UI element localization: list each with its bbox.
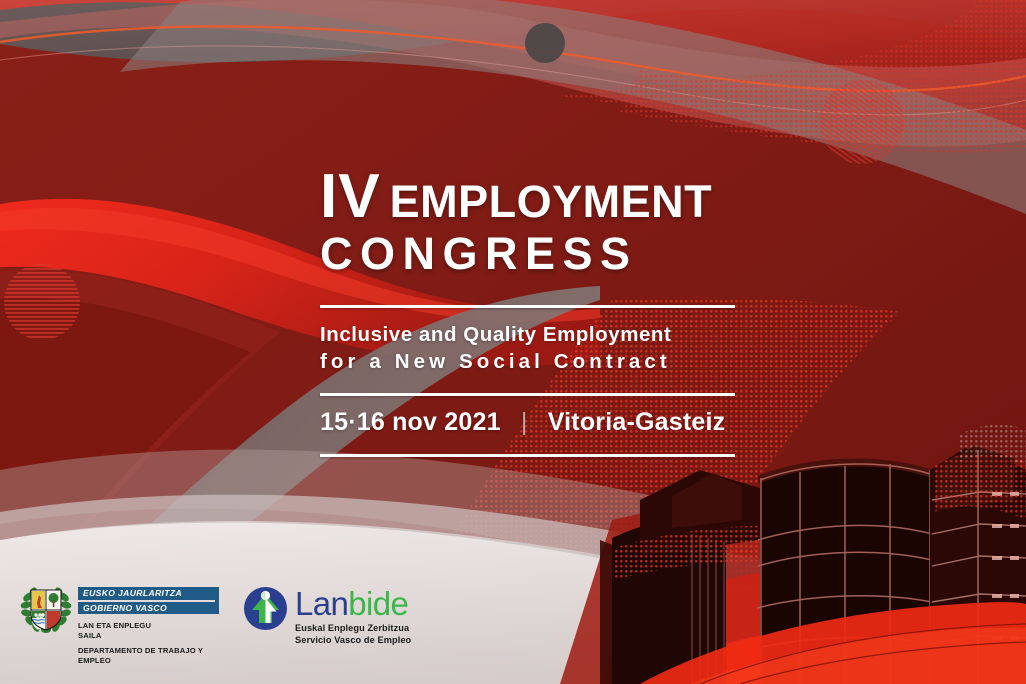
- lanbide-tagline-eu: Euskal Enplegu Zerbitzua: [295, 623, 411, 635]
- department-es: DEPARTAMENTO DE TRABAJO Y EMPLEO: [78, 646, 218, 666]
- lanbide-logo: Lanbide Euskal Enplegu Zerbitzua Servici…: [243, 586, 411, 647]
- edition-numeral: IV: [320, 168, 381, 227]
- lanbide-word-bide: bide: [348, 585, 408, 622]
- lanbide-text-block: Lanbide Euskal Enplegu Zerbitzua Servici…: [295, 586, 411, 647]
- basque-coat-of-arms-icon: [20, 585, 72, 633]
- dateline-separator: |: [521, 408, 528, 437]
- dateline: 15·16 nov 2021 | Vitoria-Gasteiz: [320, 408, 740, 437]
- department-eu-line1: LAN ETA ENPLEGU: [78, 621, 218, 631]
- lanbide-tagline-es: Servicio Vasco de Empleo: [295, 635, 411, 647]
- congress-poster: IV EMPLOYMENT CONGRESS Inclusive and Qua…: [0, 0, 1026, 684]
- government-department-text: LAN ETA ENPLEGU SAILA DEPARTAMENTO DE TR…: [78, 621, 218, 666]
- headline: IV EMPLOYMENT CONGRESS: [320, 168, 740, 276]
- title-block: IV EMPLOYMENT CONGRESS Inclusive and Qua…: [320, 168, 740, 457]
- department-eu: LAN ETA ENPLEGU SAILA: [78, 621, 218, 641]
- government-banner: EUSKO JAURLARITZA GOBIERNO VASCO: [78, 587, 218, 615]
- banner-line-es: GOBIERNO VASCO: [78, 602, 218, 615]
- divider-rule-bottom: [320, 454, 735, 457]
- subtitle: Inclusive and Quality Employment for a N…: [320, 321, 740, 375]
- headline-line-1: IV EMPLOYMENT: [320, 168, 740, 227]
- department-eu-line2: SAILA: [78, 631, 218, 641]
- lanbide-wordmark: Lanbide: [295, 587, 411, 620]
- subtitle-line-1: Inclusive and Quality Employment: [320, 321, 740, 348]
- lanbide-tagline: Euskal Enplegu Zerbitzua Servicio Vasco …: [295, 623, 411, 647]
- lanbide-word-lan: Lan: [295, 585, 348, 622]
- dateline-dates: 15·16 nov 2021: [320, 408, 501, 436]
- basque-government-logo: EUSKO JAURLARITZA GOBIERNO VASCO LAN ETA…: [20, 585, 218, 666]
- headline-word-employment: EMPLOYMENT: [390, 181, 713, 224]
- department-es-line1: DEPARTAMENTO DE TRABAJO Y: [78, 646, 218, 656]
- government-text-block: EUSKO JAURLARITZA GOBIERNO VASCO LAN ETA…: [78, 585, 218, 666]
- dateline-city: Vitoria-Gasteiz: [548, 408, 726, 436]
- divider-rule-top: [320, 305, 735, 308]
- banner-edge: [215, 587, 219, 614]
- subtitle-line-2: for a New Social Contract: [320, 348, 740, 375]
- department-es-line2: EMPLEO: [78, 656, 218, 666]
- banner-line-eu: EUSKO JAURLARITZA: [78, 587, 218, 600]
- divider-rule-middle: [320, 393, 735, 396]
- lanbide-person-arrow-icon: [243, 586, 288, 631]
- headline-line-2: CONGRESS: [320, 233, 740, 276]
